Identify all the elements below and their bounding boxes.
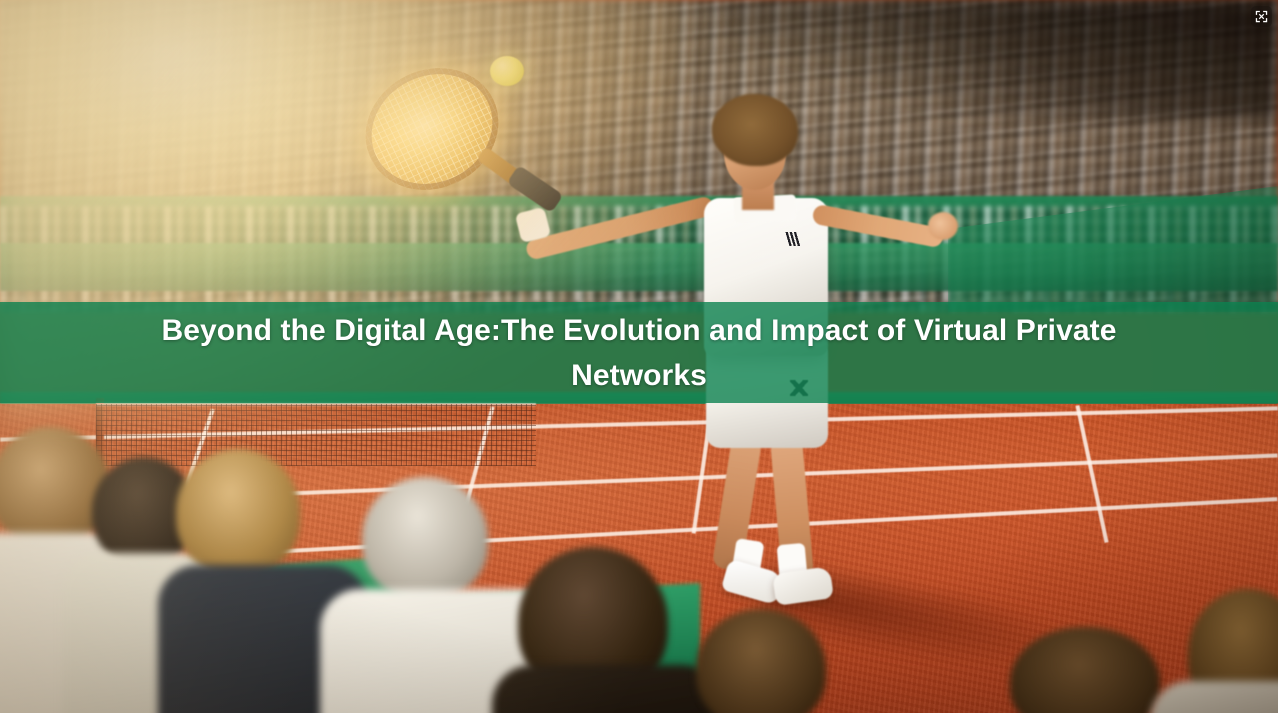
page-title-line-1: Beyond the Digital Age:The Evolution and… — [44, 308, 1234, 353]
expand-fullscreen-button[interactable] — [1251, 6, 1272, 27]
player-right-arm — [811, 204, 944, 249]
page-title: Beyond the Digital Age:The Evolution and… — [44, 308, 1234, 398]
hero-image-container: Beyond the Digital Age:The Evolution and… — [0, 0, 1278, 713]
player-hair — [712, 94, 798, 166]
player-right-hand — [928, 212, 958, 240]
title-banner: Beyond the Digital Age:The Evolution and… — [0, 302, 1278, 403]
page-title-line-2: Networks — [44, 353, 1234, 398]
expand-fullscreen-icon — [1255, 10, 1268, 23]
shirt-brand-icon — [778, 232, 800, 246]
